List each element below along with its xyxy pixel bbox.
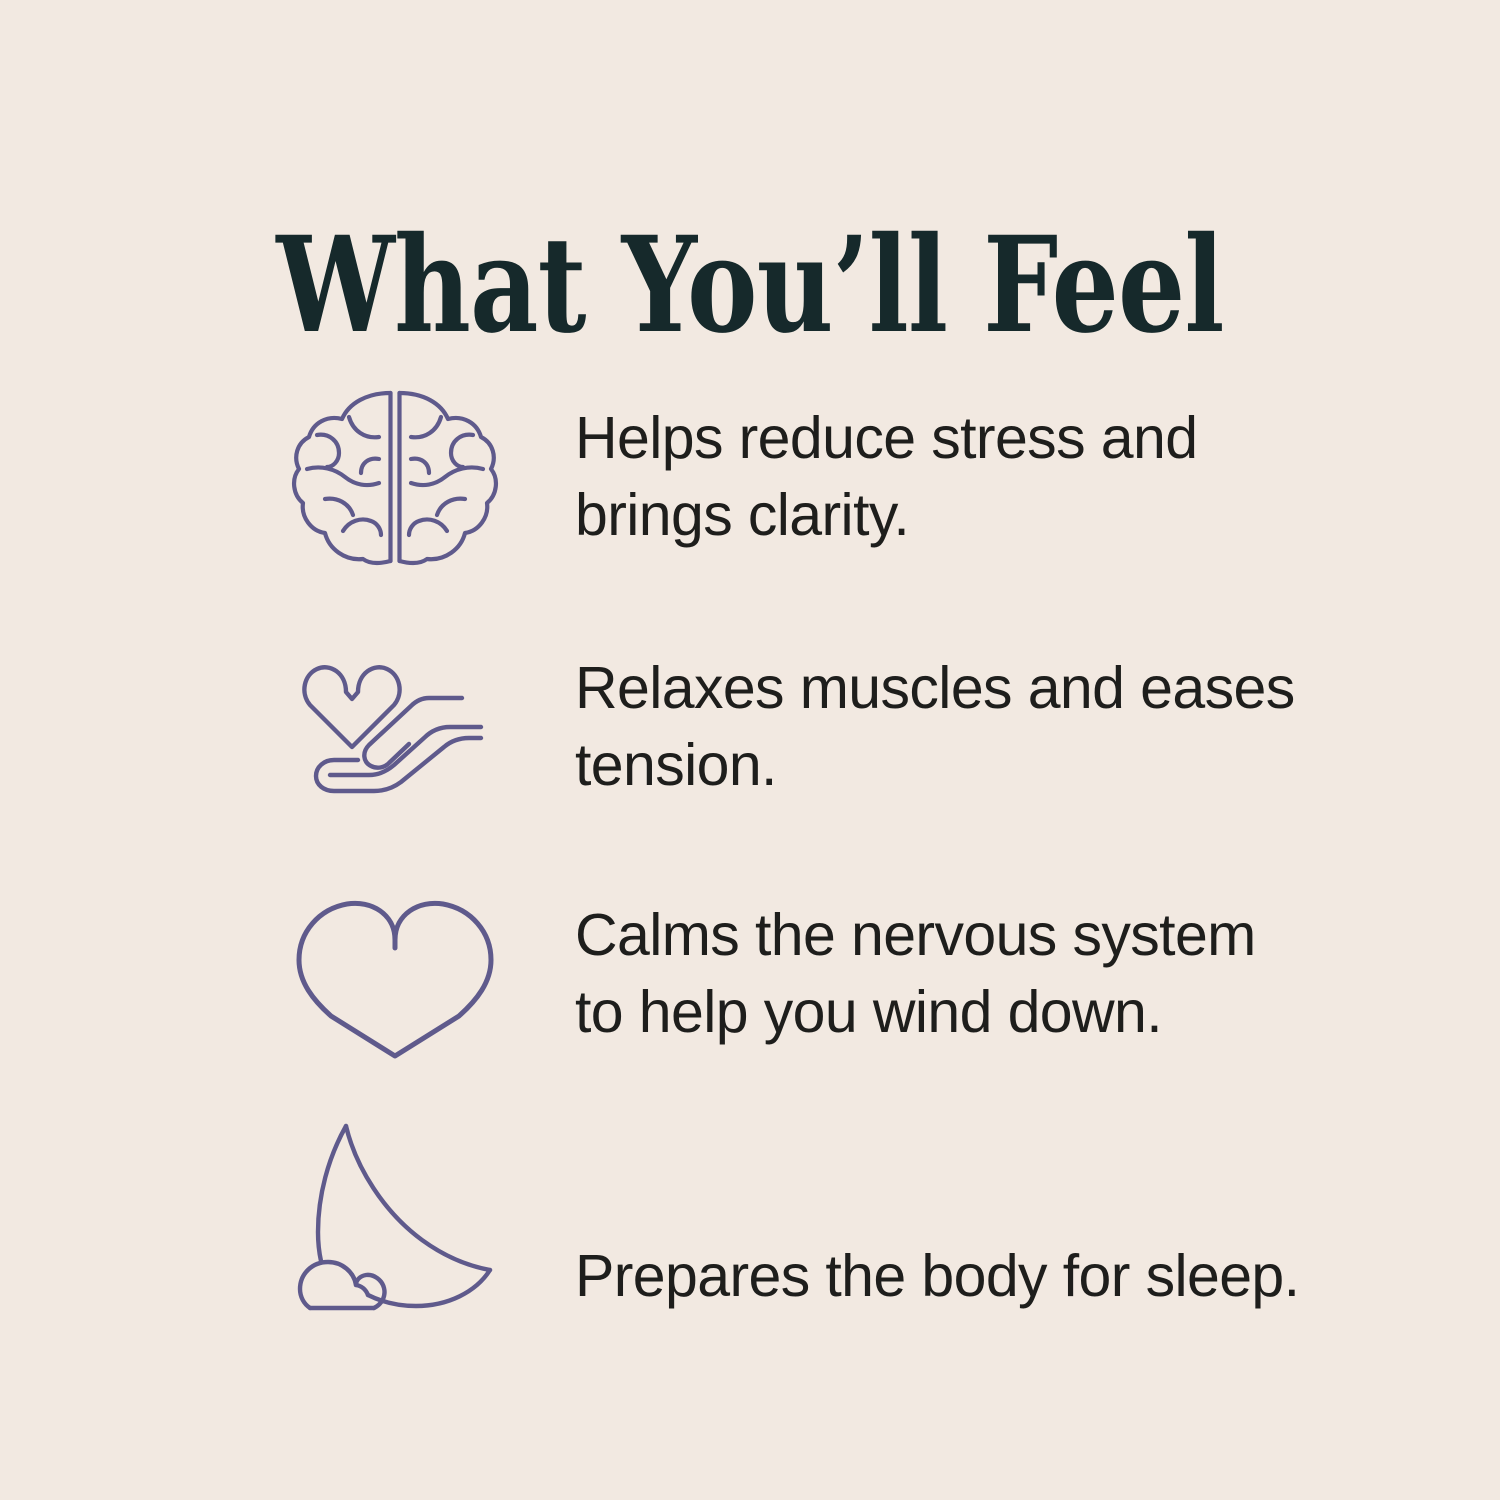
benefit-icon-container	[270, 1114, 520, 1314]
benefit-text: Helps reduce stress and brings clarity.	[520, 400, 1310, 553]
benefit-icon-container	[270, 896, 520, 1064]
benefit-icon-container	[270, 383, 520, 571]
infographic-canvas: What You’ll Feel	[0, 0, 1500, 1500]
benefit-text: Relaxes muscles and eases tension.	[520, 650, 1310, 803]
list-item: Relaxes muscles and eases tension.	[270, 602, 1310, 852]
benefit-text: Calms the nervous system to help you win…	[520, 897, 1310, 1050]
benefits-list: Helps reduce stress and brings clarity.	[270, 352, 1310, 1357]
benefit-text: Prepares the body for sleep.	[520, 1238, 1310, 1315]
benefit-icon-container	[270, 647, 520, 807]
list-item: Calms the nervous system to help you win…	[270, 852, 1310, 1107]
heart-outline-icon	[291, 896, 499, 1064]
crescent-moon-cloud-icon	[288, 1114, 502, 1314]
list-item: Helps reduce stress and brings clarity.	[270, 352, 1310, 602]
brain-icon	[287, 383, 503, 571]
page-title: What You’ll Feel	[150, 220, 1350, 352]
list-item: Prepares the body for sleep.	[270, 1107, 1310, 1357]
heart-in-hand-icon	[290, 647, 500, 807]
